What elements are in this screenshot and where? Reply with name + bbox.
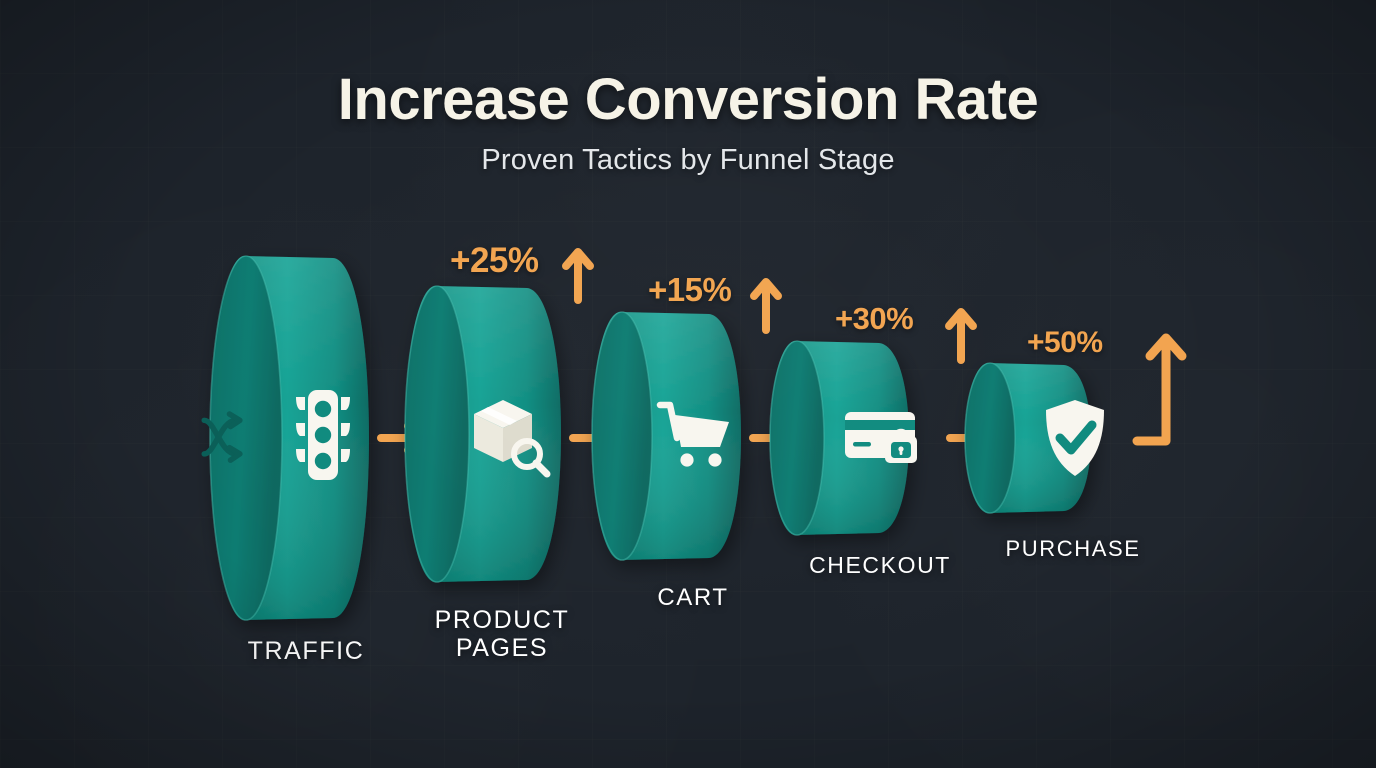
elbow-arrow-up-icon [1137,338,1182,441]
uplift-badge-product-pages: +25% [450,241,539,281]
credit-card-lock-icon [845,412,917,463]
arrow-up-icon-15 [754,282,778,330]
funnel-segment-traffic[interactable] [210,256,369,620]
uplift-badge-checkout: +30% [835,301,913,337]
uplift-badge-purchase: +50% [1027,326,1103,360]
stage-label-product-pages: PRODUCT PAGES [402,606,602,662]
stage-label-cart: CART [593,585,793,612]
infographic-canvas: Increase Conversion Rate Proven Tactics … [0,0,1376,768]
stage-label-traffic: TRAFFIC [206,637,406,665]
stage-label-purchase: PURCHASE [973,537,1173,562]
uplift-badge-cart: +15% [648,271,731,309]
arrow-up-icon-30 [949,312,973,360]
stage-label-checkout: CHECKOUT [780,553,980,579]
arrow-up-icon-25 [566,252,590,300]
